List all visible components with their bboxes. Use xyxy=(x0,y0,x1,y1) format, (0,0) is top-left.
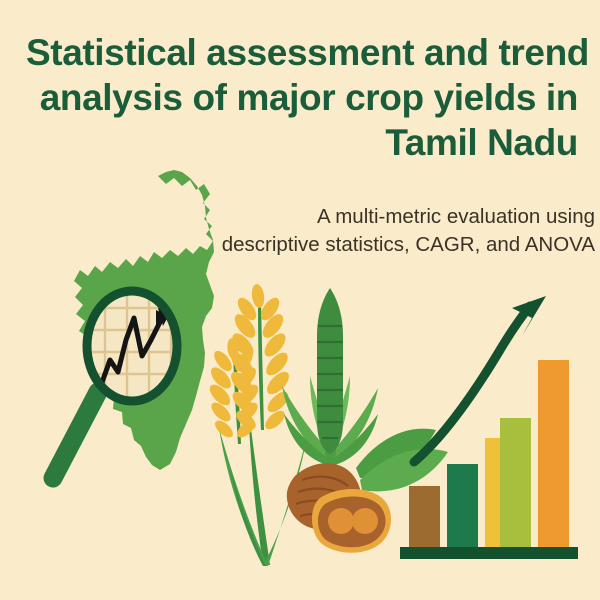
title-line-2: analysis of major crop yields in xyxy=(26,75,578,120)
groundnut-kernel-left xyxy=(328,508,354,534)
page-title: Statistical assessment and trend analysi… xyxy=(26,30,578,165)
bar-1 xyxy=(409,486,440,548)
bar-4 xyxy=(500,418,531,548)
subtitle-line-1: A multi-metric evaluation using xyxy=(210,203,595,231)
maize-cob xyxy=(282,288,378,478)
chart-baseline xyxy=(400,547,578,559)
poster-canvas: Statistical assessment and trend analysi… xyxy=(0,0,600,600)
page-subtitle: A multi-metric evaluation using descript… xyxy=(210,203,595,259)
rice-stalks xyxy=(206,283,308,566)
title-line-1: Statistical assessment and trend xyxy=(26,30,578,75)
title-line-3: Tamil Nadu xyxy=(26,120,578,165)
subtitle-line-2: descriptive statistics, CAGR, and ANOVA xyxy=(210,231,595,259)
groundnut-kernel-right xyxy=(352,508,378,534)
magnifier-handle xyxy=(53,392,98,478)
bar-5 xyxy=(538,360,569,548)
bar-2 xyxy=(447,464,478,548)
bar-chart xyxy=(400,296,578,559)
